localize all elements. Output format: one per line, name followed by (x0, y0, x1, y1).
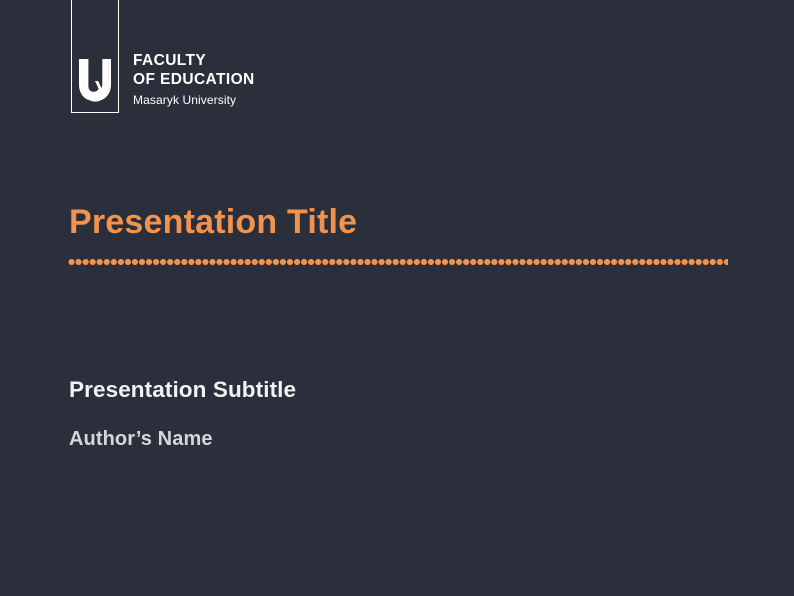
presentation-title-slide: FACULTY OF EDUCATION Masaryk University … (0, 0, 794, 596)
logo-faculty-line-1: FACULTY (133, 52, 255, 70)
logo-faculty-line-2: OF EDUCATION (133, 71, 255, 89)
logo-wordmark: FACULTY OF EDUCATION Masaryk University (133, 52, 255, 113)
dotted-divider (68, 259, 728, 265)
author-name: Author’s Name (69, 428, 213, 451)
presentation-subtitle: Presentation Subtitle (69, 377, 296, 403)
logo-frame (71, 0, 119, 113)
presentation-title: Presentation Title (69, 203, 357, 242)
masaryk-university-mu-mark-icon (79, 59, 111, 103)
university-logo: FACULTY OF EDUCATION Masaryk University (71, 0, 255, 113)
logo-university-name: Masaryk University (133, 91, 255, 109)
